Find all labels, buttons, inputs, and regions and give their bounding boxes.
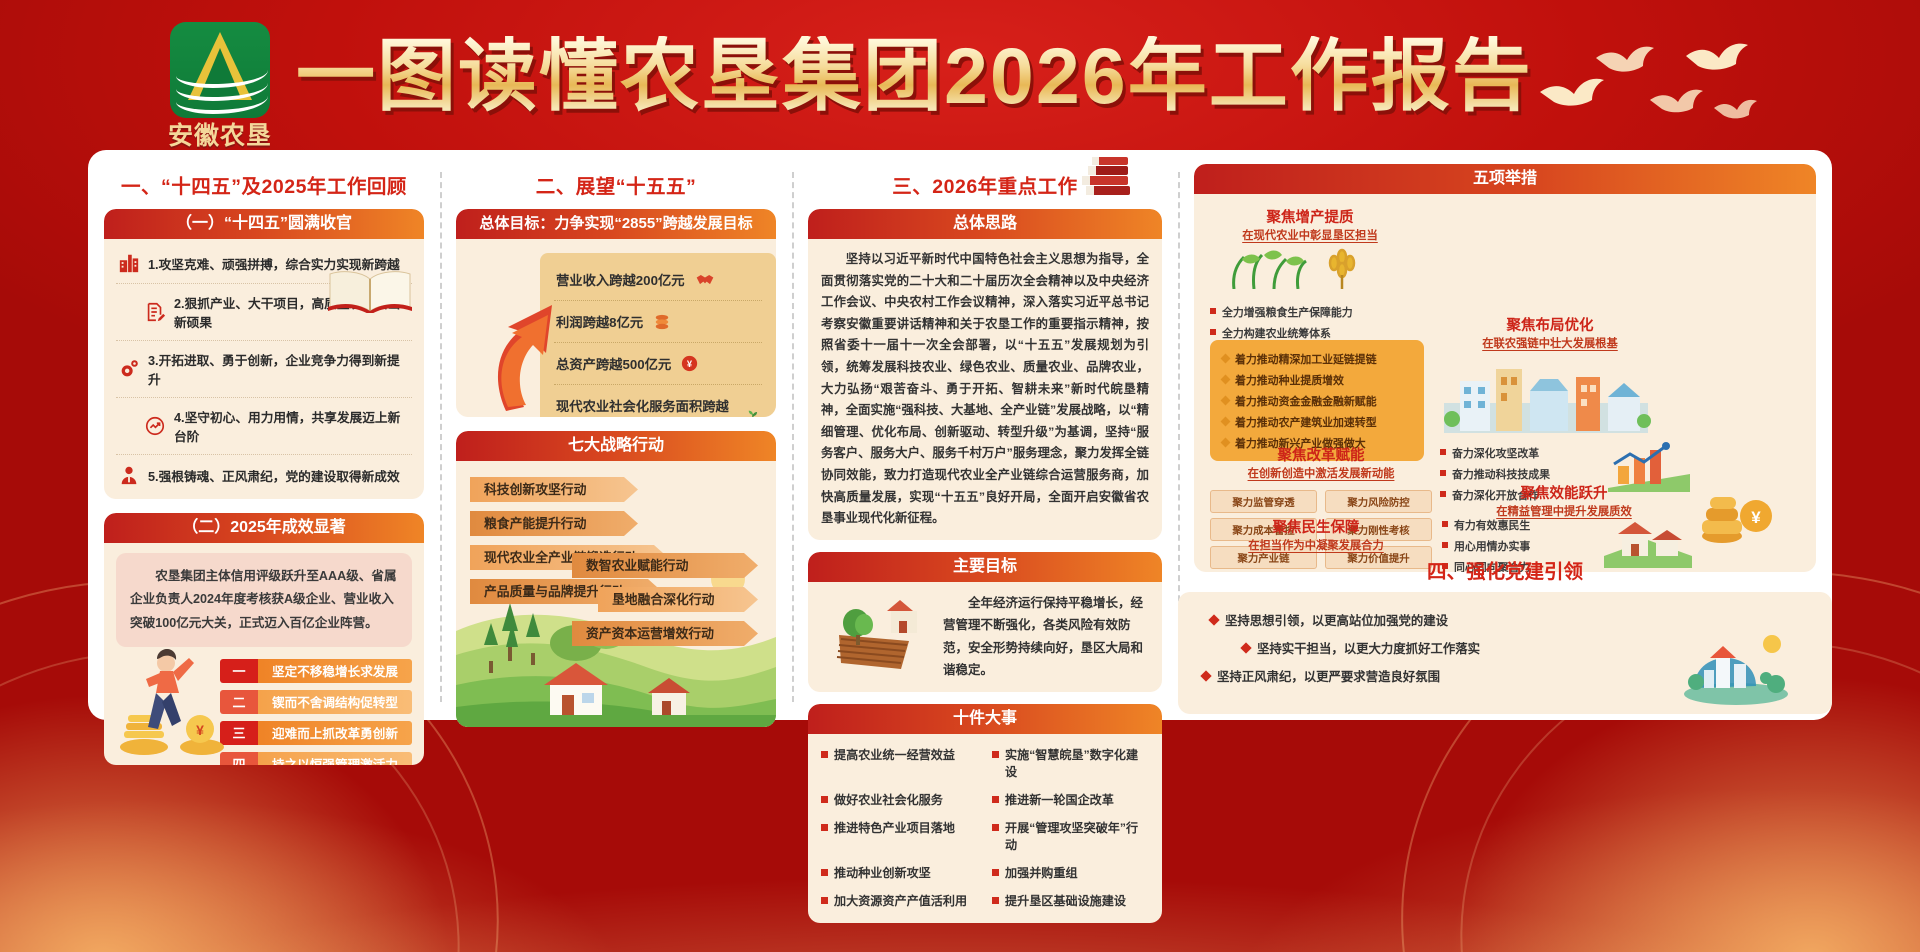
bullet-square-icon — [992, 796, 999, 803]
farmland-icon — [821, 595, 933, 679]
bullet-diamond-icon — [1221, 374, 1231, 384]
goal-text: 营业收入跨越200亿元 — [556, 270, 685, 289]
gears-icon — [118, 358, 140, 380]
measure-title: 聚焦增产提质 — [1210, 206, 1410, 227]
bullet-item: 奋力深化攻坚改革 — [1440, 442, 1600, 463]
column-outlook: 二、展望“十五五” 总体目标：力争实现“2855”跨越发展目标 营业收入跨越20… — [440, 150, 792, 720]
svg-text:¥: ¥ — [1751, 508, 1761, 527]
priority-text: 迎难而上抓改革勇创新 — [258, 721, 412, 745]
action-tag[interactable]: 垦地融合深化行动 — [598, 587, 758, 612]
city-landscape-icon — [1680, 628, 1792, 706]
main-targets-title: 主要目标 — [808, 552, 1162, 582]
bullet-square-icon — [1442, 521, 1448, 527]
yuan-coin-icon: ¥ — [681, 355, 698, 372]
column-review: 一、“十四五”及2025年工作回顾 （一）“十四五”圆满收官 1.攻坚克难、 — [88, 150, 440, 720]
action-tag[interactable]: 资产资本运营增效行动 — [572, 621, 758, 646]
bullet-diamond-icon — [1221, 416, 1231, 426]
bullet-text: 着力推动农产建筑业加速转型 — [1235, 414, 1377, 430]
bullet-square-icon — [821, 824, 828, 831]
review-item-text: 4.坚守初心、用力用情，共享发展迈上新台阶 — [174, 407, 410, 445]
bullet-item: 用心用情办实事 — [1442, 535, 1592, 556]
ten-events-grid: 提高农业统一经营效益 实施“智慧皖垦”数字化建设 做好农业社会化服务 推进新一轮… — [821, 746, 1149, 909]
bullet-text: 奋力推动科技技成果 — [1452, 466, 1550, 482]
priority-text: 持之以恒强管理激活力 — [258, 752, 412, 765]
event-item: 做好农业社会化服务 — [821, 791, 978, 808]
column-key-work: 三、2026年重点工作 总体思路 坚持以习近平新时代中国特色社会主义思想为指导，… — [792, 150, 1178, 720]
event-item: 提升垦区基础设施建设 — [992, 892, 1149, 909]
measure-block-3: 聚焦改革赋能 在创新创造中激活发展新动能 — [1210, 444, 1432, 481]
priority-row[interactable]: 二 锲而不舍调结构促转型 — [220, 690, 412, 714]
event-text: 提升垦区基础设施建设 — [1005, 892, 1126, 909]
measure-bullets-box: 着力推动精深加工业延链提链 着力推动种业提质增效 着力推动资金金融金融新赋能 着… — [1210, 340, 1424, 461]
five-measures-title: 五项举措 — [1194, 164, 1816, 194]
event-item: 加大资源资产产值活利用 — [821, 892, 978, 909]
factory-icon — [1438, 357, 1654, 437]
party-building-box: 坚持思想引领，以更高站位加强党的建设 坚持实干担当，以更大力度抓好工作落实 坚持… — [1178, 592, 1832, 714]
ten-events-title: 十件大事 — [808, 704, 1162, 734]
event-text: 做好农业社会化服务 — [834, 791, 943, 808]
bullet-item: 奋力推动科技技成果 — [1440, 463, 1600, 484]
action-tag[interactable]: 数智农业赋能行动 — [572, 553, 758, 578]
priority-text: 坚定不移稳增长求发展 — [258, 659, 412, 683]
up-arrow-icon — [486, 303, 582, 413]
bullet-square-icon — [992, 751, 999, 758]
section-party-building: 四、强化党建引领 坚持思想引领，以更高站位加强党的建设 坚持实干担当，以更大力度… — [1178, 555, 1832, 714]
bullet-square-icon — [1442, 542, 1448, 548]
bullet-text: 着力推动精深加工业延链提链 — [1235, 351, 1377, 367]
goal-row: 现代农业社会化服务面积跨越500万亩 — [554, 385, 762, 417]
svg-text:¥: ¥ — [196, 722, 204, 738]
bullet-diamond-icon — [1240, 642, 1251, 653]
event-item: 推进新一轮国企改革 — [992, 791, 1149, 808]
overall-goal-title: 总体目标：力争实现“2855”跨越发展目标 — [456, 209, 776, 239]
panel-overall-idea: 总体思路 坚持以习近平新时代中国特色社会主义思想为指导，全面贯彻落实党的二十大和… — [808, 209, 1162, 540]
panel-14th-plan: （一）“十四五”圆满收官 1.攻坚克难、顽强拼搏，综合实力实现新跨越 — [104, 209, 424, 499]
bullet-text: 奋力深化攻坚改革 — [1452, 445, 1539, 461]
bullet-diamond-icon — [1200, 670, 1211, 681]
measure-block-2: 着力推动精深加工业延链提链 着力推动种业提质增效 着力推动资金金融金融新赋能 着… — [1210, 340, 1424, 461]
bullet-text: 着力推动种业提质增效 — [1235, 372, 1344, 388]
bullet-square-icon — [1440, 470, 1446, 476]
pill-item[interactable]: 聚力监管穿透 — [1210, 490, 1317, 513]
bullet-square-icon — [821, 897, 828, 904]
person-icon — [118, 464, 140, 486]
bullet-square-icon — [992, 869, 999, 876]
wheat-icon — [1214, 247, 1404, 289]
section-heading-3: 三、2026年重点工作 — [808, 170, 1162, 199]
event-item: 加强并购重组 — [992, 864, 1149, 881]
event-text: 加强并购重组 — [1005, 864, 1078, 881]
measure-title: 聚焦效能跃升 — [1444, 482, 1684, 503]
bullet-square-icon — [821, 751, 828, 758]
review-item: 5.强根铸魂、正风肃纪，党的建设取得新成效 — [116, 455, 412, 495]
event-text: 实施“智慧皖垦”数字化建设 — [1005, 746, 1149, 780]
section-heading-3-text: 三、2026年重点工作 — [892, 176, 1077, 198]
panel-2025-results: （二）2025年成效显著 农垦集团主体信用评级跃升至AAA级、省属企业负责人20… — [104, 513, 424, 765]
bullet-text: 有力有效惠民生 — [1454, 517, 1530, 533]
bullet-square-icon — [992, 897, 999, 904]
bullet-item: 着力推动精深加工业延链提链 — [1222, 348, 1412, 369]
seven-actions-title: 七大战略行动 — [456, 431, 776, 461]
section-heading-2: 二、展望“十五五” — [456, 170, 776, 199]
event-text: 加大资源资产产值活利用 — [834, 892, 967, 909]
growth-chart-icon — [144, 415, 166, 437]
measure-block-5: 聚焦民生保障 在担当作为中凝聚发展合力 — [1210, 516, 1422, 553]
panel-14th-plan-title: （一）“十四五”圆满收官 — [104, 209, 424, 239]
review-item: 4.坚守初心、用力用情，共享发展迈上新台阶 — [116, 398, 412, 455]
bullet-diamond-icon — [1221, 353, 1231, 363]
priority-row[interactable]: 三 迎难而上抓改革勇创新 — [220, 721, 412, 745]
review-item-text: 3.开拓进取、勇于创新，企业竞争力得到新提升 — [148, 350, 410, 388]
bullet-text: 着力推动资金金融金融新赋能 — [1235, 393, 1377, 409]
bullet-item: 有力有效惠民生 — [1442, 514, 1592, 535]
document-pen-icon — [144, 301, 166, 323]
column-measures: 五项举措 聚焦增产提质 在现代农业中彰显垦区担当 — [1178, 150, 1832, 720]
bullet-square-icon — [821, 796, 828, 803]
logo-mark-icon — [170, 22, 270, 118]
event-item: 开展“管理攻坚突破年”行动 — [992, 819, 1149, 853]
bullet-square-icon — [992, 824, 999, 831]
bullet-item: 着力推动资金金融金融新赋能 — [1222, 390, 1412, 411]
bullet-text: 全力构建农业统筹体系 — [1222, 325, 1331, 341]
party-line-text: 坚持思想引领，以更高站位加强党的建设 — [1225, 611, 1448, 629]
panel-overall-goal: 总体目标：力争实现“2855”跨越发展目标 营业收入跨越200亿元 利润跨越8亿… — [456, 209, 776, 417]
action-tag[interactable]: 科技创新攻坚行动 — [470, 477, 638, 502]
review-item-text: 5.强根铸魂、正风肃纪，党的建设取得新成效 — [148, 466, 400, 485]
panel-2025-title: （二）2025年成效显著 — [104, 513, 424, 543]
event-text: 提高农业统一经营效益 — [834, 746, 955, 763]
panel-ten-events: 十件大事 提高农业统一经营效益 实施“智慧皖垦”数字化建设 做好农业社会化服务 … — [808, 704, 1162, 923]
page-title: 一图读懂农垦集团2026年工作报告 — [296, 36, 1533, 115]
bullet-item: 着力推动农产建筑业加速转型 — [1222, 411, 1412, 432]
investor-illustration: ¥ — [114, 639, 234, 759]
party-line-text: 坚持实干担当，以更大力度抓好工作落实 — [1257, 639, 1480, 657]
section-heading-4: 四、强化党建引领 — [1178, 555, 1832, 584]
coins-icon — [653, 314, 671, 330]
logo-text: 安徽农垦 — [160, 116, 280, 152]
pill-item[interactable]: 聚力风险防控 — [1325, 490, 1432, 513]
goal-row: 利润跨越8亿元 — [554, 301, 762, 343]
event-text: 开展“管理攻坚突破年”行动 — [1005, 819, 1149, 853]
bullet-diamond-icon — [1221, 395, 1231, 405]
books-stack-icon — [1078, 156, 1136, 200]
measure-subtitle: 在现代农业中彰显垦区担当 — [1210, 227, 1410, 243]
event-item: 提高农业统一经营效益 — [821, 746, 978, 780]
bullet-text: 用心用情办实事 — [1454, 538, 1530, 554]
measure-subtitle: 在联农强链中壮大发展根基 — [1438, 335, 1662, 351]
review-item: 3.开拓进取、勇于创新，企业竞争力得到新提升 — [116, 341, 412, 398]
event-text: 推进特色产业项目落地 — [834, 819, 955, 836]
doves-icon — [1500, 30, 1760, 140]
event-text: 推进新一轮国企改革 — [1005, 791, 1114, 808]
numbered-priority-list: 一 坚定不移稳增长求发展 二 锲而不舍调结构促转型 三 迎难而上抓改革勇创新 四… — [220, 659, 412, 765]
anhui-nongken-logo: 安徽农垦 — [160, 22, 280, 142]
priority-row[interactable]: 四 持之以恒强管理激活力 — [220, 752, 412, 765]
event-text: 推动种业创新攻坚 — [834, 864, 931, 881]
bullet-square-icon — [1210, 329, 1216, 335]
priority-text: 锲而不舍调结构促转型 — [258, 690, 412, 714]
measure-block-2-title: 聚焦布局优化 在联农强链中壮大发展根基 — [1438, 314, 1662, 442]
overall-idea-title: 总体思路 — [808, 209, 1162, 239]
panel-seven-actions: 七大战略行动 — [456, 431, 776, 727]
main-targets-paragraph: 全年经济运行保持平稳增长，经营管理不断强化，各类风险有效防范，安全形势持续向好，… — [943, 592, 1149, 682]
bullet-item: 着力推动种业提质增效 — [1222, 369, 1412, 390]
bullet-item: 全力增强粮食生产保障能力 — [1210, 301, 1410, 322]
event-item: 推进特色产业项目落地 — [821, 819, 978, 853]
handshake-icon — [695, 272, 715, 288]
measure-title: 聚焦民生保障 — [1210, 516, 1422, 537]
content-board: 一、“十四五”及2025年工作回顾 （一）“十四五”圆满收官 1.攻坚克难、 — [88, 150, 1832, 720]
results-paragraph: 农垦集团主体信用评级跃升至AAA级、省属企业负责人2024年度考核获A级企业、营… — [116, 553, 412, 647]
overall-idea-paragraph: 坚持以习近平新时代中国特色社会主义思想为指导，全面贯彻落实党的二十大和二十届历次… — [821, 249, 1149, 530]
goal-text: 现代农业社会化服务面积跨越500万亩 — [556, 396, 736, 417]
svg-text:¥: ¥ — [687, 359, 693, 369]
panel-five-measures: 五项举措 聚焦增产提质 在现代农业中彰显垦区担当 — [1194, 164, 1816, 572]
party-line-text: 坚持正风肃纪，以更严要求营造良好氛围 — [1217, 667, 1440, 685]
goal-row: 营业收入跨越200亿元 — [554, 259, 762, 301]
goal-row: 总资产跨越500亿元 ¥ — [554, 343, 762, 385]
action-tag[interactable]: 粮食产能提升行动 — [470, 511, 638, 536]
event-item: 实施“智慧皖垦”数字化建设 — [992, 746, 1149, 780]
event-item: 推动种业创新攻坚 — [821, 864, 978, 881]
building-icon — [118, 252, 140, 274]
section-heading-1: 一、“十四五”及2025年工作回顾 — [104, 170, 424, 199]
measure-title: 聚焦布局优化 — [1438, 314, 1662, 335]
bullet-text: 全力增强粮食生产保障能力 — [1222, 304, 1353, 320]
bullet-diamond-icon — [1208, 614, 1219, 625]
sprout-icon — [746, 407, 760, 418]
measure-subtitle: 在创新创造中激活发展新动能 — [1210, 465, 1432, 481]
bullet-square-icon — [1440, 449, 1446, 455]
poster-header: 安徽农垦 一图读懂农垦集团2026年工作报告 — [0, 0, 1920, 150]
panel-main-targets: 主要目标 全年经济运行保持平稳增长，经营管理不断强化，各类风险有效防范，安全形势… — [808, 552, 1162, 692]
coins-stack-icon: ¥ — [1698, 480, 1776, 546]
bullet-square-icon — [1210, 308, 1216, 314]
priority-row[interactable]: 一 坚定不移稳增长求发展 — [220, 659, 412, 683]
measure-subtitle: 在担当作为中凝聚发展合力 — [1210, 537, 1422, 553]
bullet-square-icon — [821, 869, 828, 876]
open-book-icon — [324, 267, 416, 313]
measure-title: 聚焦改革赋能 — [1210, 444, 1432, 465]
